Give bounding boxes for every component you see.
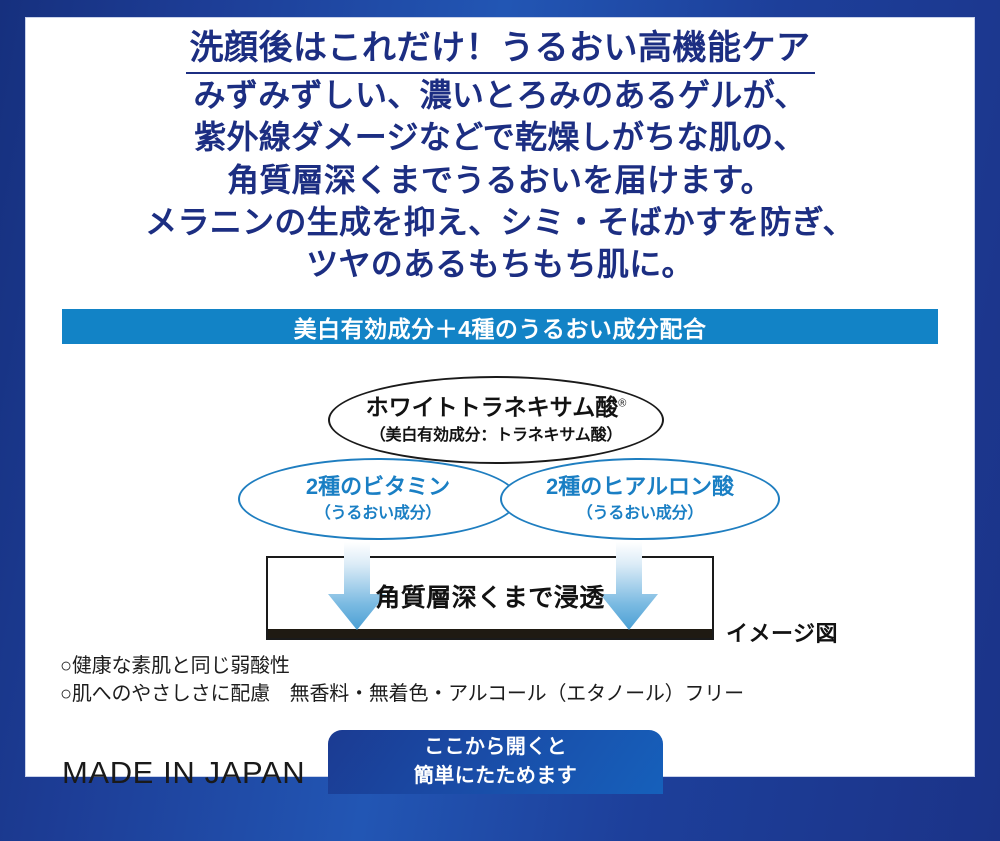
list-item: ○肌へのやさしさに配慮 無香料・無着色・アルコール（エタノール）フリー	[60, 680, 744, 708]
registered-trademark-icon: ®	[618, 397, 626, 409]
headline-line-1: みずみずしい、濃いとろみのあるゲルが、	[26, 74, 974, 116]
headline-line-3: 角質層深くまでうるおいを届けます。	[26, 159, 974, 201]
page-title: 洗顔後はこれだけ！うるおい高機能ケア	[186, 28, 815, 74]
ellipse-hyaluronic-acid: 2種のヒアルロン酸 （うるおい成分）	[500, 458, 780, 540]
headline-block: 洗顔後はこれだけ！うるおい高機能ケア みずみずしい、濃いとろみのあるゲルが、 紫…	[26, 28, 974, 285]
ellipse-right-title: 2種のヒアルロン酸	[546, 475, 734, 498]
open-tab-line-1: ここから開くと	[424, 733, 567, 762]
ellipse-left-subtitle: （うるおい成分）	[315, 499, 441, 523]
ellipse-left-title: 2種のビタミン	[306, 475, 450, 498]
feature-bullet-list: ○健康な素肌と同じ弱酸性 ○肌へのやさしさに配慮 無香料・無着色・アルコール（エ…	[60, 652, 744, 709]
ellipse-right-subtitle: （うるおい成分）	[577, 499, 703, 523]
ingredient-banner-label: 美白有効成分＋4種のうるおい成分配合	[294, 310, 707, 344]
package-artwork: 洗顔後はこれだけ！うるおい高機能ケア みずみずしい、濃いとろみのあるゲルが、 紫…	[0, 0, 1000, 841]
open-tab-line-2: 簡単にたためます	[414, 762, 577, 791]
ingredient-diagram: ホワイトトラネキサム酸® （美白有効成分：トラネキサム酸） 2種のビタミン （う…	[26, 358, 974, 658]
ellipse-vitamins: 2種のビタミン （うるおい成分）	[238, 458, 518, 540]
content-panel: 洗顔後はこれだけ！うるおい高機能ケア みずみずしい、濃いとろみのあるゲルが、 紫…	[26, 18, 974, 776]
open-here-tab: ここから開くと 簡単にたためます	[328, 730, 663, 794]
made-in-japan-label: MADE IN JAPAN	[62, 755, 305, 791]
ellipse-whitening-ingredient: ホワイトトラネキサム酸® （美白有効成分：トラネキサム酸）	[328, 376, 664, 464]
penetration-label: 角質層深くまで浸透	[268, 558, 712, 633]
ingredient-banner: 美白有効成分＋4種のうるおい成分配合	[62, 309, 938, 344]
headline-line-2: 紫外線ダメージなどで乾燥しがちな肌の、	[26, 116, 974, 158]
image-note-label: イメージ図	[726, 616, 838, 648]
headline-line-4: メラニンの生成を抑え、シミ・そばかすを防ぎ、	[26, 201, 974, 243]
penetration-box: 角質層深くまで浸透	[266, 556, 714, 640]
ellipse-main-subtitle: （美白有効成分：トラネキサム酸）	[370, 421, 622, 445]
headline-line-5: ツヤのあるもちもち肌に。	[26, 243, 974, 285]
ellipse-main-title: ホワイトトラネキサム酸®	[366, 395, 627, 419]
headline-title-row: 洗顔後はこれだけ！うるおい高機能ケア	[26, 28, 974, 74]
list-item: ○健康な素肌と同じ弱酸性	[60, 652, 744, 680]
